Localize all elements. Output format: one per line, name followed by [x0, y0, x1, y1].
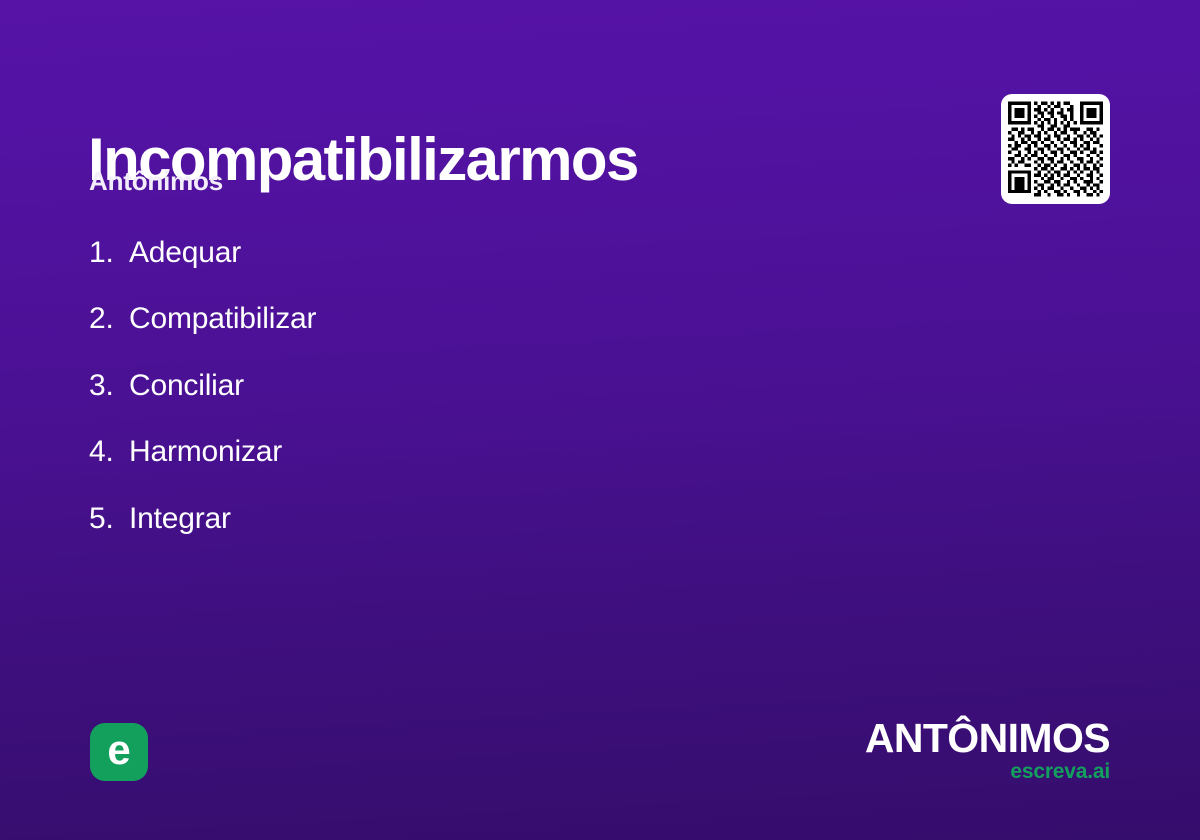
antonyms-list: 1. Adequar 2. Compatibilizar 3. Concilia… [89, 236, 849, 568]
list-item-label: Adequar [129, 236, 241, 270]
brand-wordmark-title: ANTÔNIMOS [865, 718, 1110, 759]
list-item: 5. Integrar [89, 502, 849, 568]
list-item-label: Conciliar [129, 369, 244, 403]
list-item-index: 3. [89, 369, 129, 403]
list-item: 3. Conciliar [89, 369, 849, 435]
list-item-index: 2. [89, 302, 129, 336]
brand-wordmark-domain: escreva.ai [865, 761, 1110, 782]
list-item: 2. Compatibilizar [89, 302, 849, 368]
list-item: 1. Adequar [89, 236, 849, 302]
list-item-label: Harmonizar [129, 435, 282, 469]
list-item-label: Integrar [129, 502, 231, 536]
page-subtitle: Antônimos [89, 166, 223, 197]
escreva-logo-icon[interactable]: e [90, 723, 148, 781]
list-item-label: Compatibilizar [129, 302, 316, 336]
antonyms-card: Incompatibilizarmos Antônimos 1. Adequar… [0, 0, 1200, 840]
list-item-index: 5. [89, 502, 129, 536]
brand-badge-letter: e [107, 729, 130, 771]
brand-wordmark: ANTÔNIMOS escreva.ai [865, 718, 1110, 782]
qr-code-icon[interactable] [1001, 94, 1110, 204]
list-item-index: 4. [89, 435, 129, 469]
list-item: 4. Harmonizar [89, 435, 849, 501]
list-item-index: 1. [89, 236, 129, 270]
